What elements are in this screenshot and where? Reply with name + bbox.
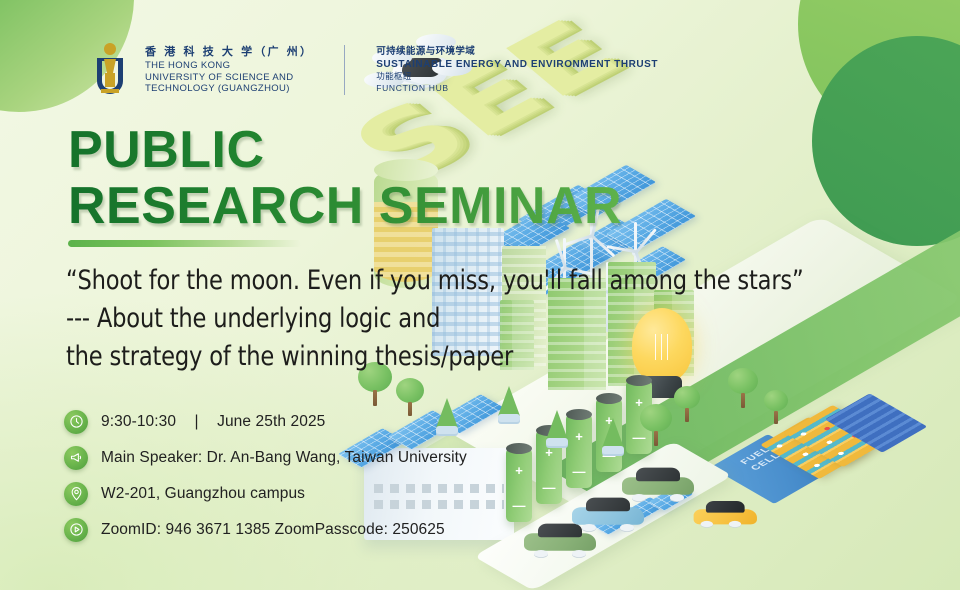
seminar-quote: “Shoot for the moon. Even if you miss, y…	[66, 262, 884, 376]
event-details: 9:30-10:30 | June 25th 2025 Main Speaker…	[64, 404, 467, 548]
tree	[640, 404, 672, 446]
page-title-line-2: RESEARCH SEMINAR	[68, 178, 708, 234]
location-pin-icon	[64, 482, 88, 506]
detail-row-zoom: ZoomID: 946 3671 1385 ZoomPasscode: 2506…	[64, 512, 467, 547]
thrust-name-en: SUSTAINABLE ENERGY AND ENVIRONMENT THRUS…	[376, 58, 658, 72]
battery-icon: +—	[506, 448, 532, 522]
quote-line-1: “Shoot for the moon. Even if you miss, y…	[66, 262, 884, 300]
electric-car	[622, 466, 694, 498]
megaphone-icon	[64, 446, 88, 470]
tree	[764, 390, 788, 424]
detail-row-speaker: Main Speaker: Dr. An-Bang Wang, Taiwan U…	[64, 440, 467, 475]
clock-icon	[64, 410, 88, 434]
page-title: PUBLIC RESEARCH SEMINAR	[68, 122, 708, 234]
tree	[674, 386, 700, 422]
university-name-en-1: THE HONG KONG	[145, 60, 313, 72]
detail-location-text: W2-201, Guangzhou campus	[101, 485, 305, 503]
university-name-en-3: TECHNOLOGY (GUANGZHOU)	[145, 83, 313, 95]
quote-line-3: the strategy of the winning thesis/paper	[66, 338, 884, 376]
thrust-name-block: 可持续能源与环境学域 SUSTAINABLE ENERGY AND ENVIRO…	[376, 46, 658, 94]
university-name-cn: 香 港 科 技 大 学（广 州）	[145, 45, 313, 58]
tree	[546, 410, 568, 446]
battery-icon: +—	[566, 414, 592, 488]
hub-name-en: FUNCTION HUB	[376, 83, 658, 94]
electric-car	[572, 496, 644, 528]
detail-time: 9:30-10:30	[101, 413, 176, 430]
brand-divider	[344, 45, 345, 95]
hkust-shield-icon	[90, 42, 130, 98]
detail-row-location: W2-201, Guangzhou campus	[64, 476, 467, 511]
seminar-poster: SEE	[0, 0, 960, 590]
detail-separator: |	[181, 413, 213, 431]
detail-date: June 25th 2025	[217, 413, 325, 430]
detail-time-text: 9:30-10:30 | June 25th 2025	[101, 413, 325, 431]
play-circle-icon	[64, 518, 88, 542]
detail-zoom-text: ZoomID: 946 3671 1385 ZoomPasscode: 2506…	[101, 521, 445, 539]
electric-car	[694, 500, 747, 525]
tree	[602, 418, 624, 454]
title-underline-rule	[68, 240, 301, 247]
detail-speaker-text: Main Speaker: Dr. An-Bang Wang, Taiwan U…	[101, 449, 467, 467]
detail-row-time: 9:30-10:30 | June 25th 2025	[64, 404, 467, 439]
university-name-en-2: UNIVERSITY OF SCIENCE AND	[145, 72, 313, 84]
thrust-name-cn: 可持续能源与环境学域	[376, 46, 658, 58]
hub-name-cn: 功能枢纽	[376, 72, 658, 83]
university-name-block: 香 港 科 技 大 学（广 州） THE HONG KONG UNIVERSIT…	[145, 45, 313, 95]
page-title-line-1: PUBLIC	[68, 122, 708, 178]
tree	[498, 386, 520, 422]
brand-header: 香 港 科 技 大 学（广 州） THE HONG KONG UNIVERSIT…	[90, 42, 658, 98]
quote-line-2: --- About the underlying logic and	[66, 300, 884, 338]
